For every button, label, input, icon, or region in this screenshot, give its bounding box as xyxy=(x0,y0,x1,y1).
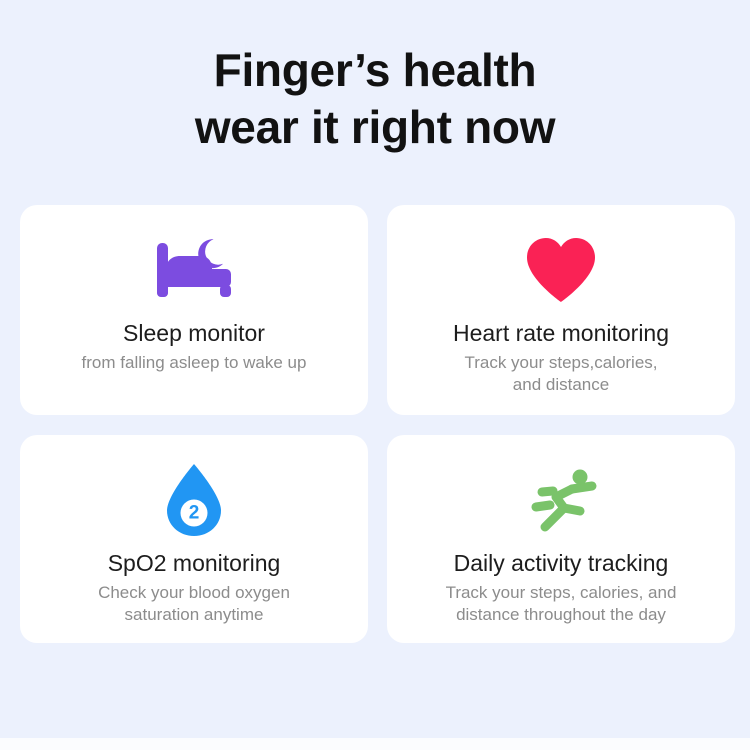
card-subtitle-line: saturation anytime xyxy=(98,604,290,626)
card-subtitle: Track your steps,calories, and distance xyxy=(446,352,675,396)
card-subtitle-line: Track your steps, calories, and xyxy=(446,582,677,604)
card-subtitle: Check your blood oxygen saturation anyti… xyxy=(80,582,308,626)
card-subtitle-line: distance throughout the day xyxy=(446,604,677,626)
bed-moon-icon xyxy=(152,227,236,313)
feature-card-heart-rate[interactable]: Heart rate monitoring Track your steps,c… xyxy=(387,205,735,415)
card-title: Heart rate monitoring xyxy=(453,319,669,347)
card-subtitle: Track your steps, calories, and distance… xyxy=(428,582,695,626)
card-subtitle-line: Track your steps,calories, xyxy=(464,352,657,374)
water-drop-o2-icon: 2 xyxy=(163,457,225,543)
promo-page: Finger’s health wear it right now xyxy=(0,0,750,750)
card-subtitle-line: and distance xyxy=(464,374,657,396)
card-subtitle-line: from falling asleep to wake up xyxy=(82,352,307,374)
headline-line-1: Finger’s health xyxy=(0,42,750,99)
feature-card-daily-activity[interactable]: Daily activity tracking Track your steps… xyxy=(387,435,735,643)
feature-card-sleep-monitor[interactable]: Sleep monitor from falling asleep to wak… xyxy=(20,205,368,415)
headline-line-2: wear it right now xyxy=(0,99,750,156)
bottom-edge-strip xyxy=(0,738,750,750)
feature-card-grid: Sleep monitor from falling asleep to wak… xyxy=(20,205,735,643)
drop-badge-label: 2 xyxy=(189,503,200,524)
heart-icon xyxy=(524,227,598,313)
card-title: Daily activity tracking xyxy=(454,549,669,577)
card-title: Sleep monitor xyxy=(123,319,265,347)
card-title: SpO2 monitoring xyxy=(108,549,281,577)
feature-card-spo2[interactable]: 2 SpO2 monitoring Check your blood oxyge… xyxy=(20,435,368,643)
card-subtitle-line: Check your blood oxygen xyxy=(98,582,290,604)
card-subtitle: from falling asleep to wake up xyxy=(64,352,325,374)
page-title: Finger’s health wear it right now xyxy=(0,42,750,156)
running-person-icon xyxy=(520,457,602,543)
